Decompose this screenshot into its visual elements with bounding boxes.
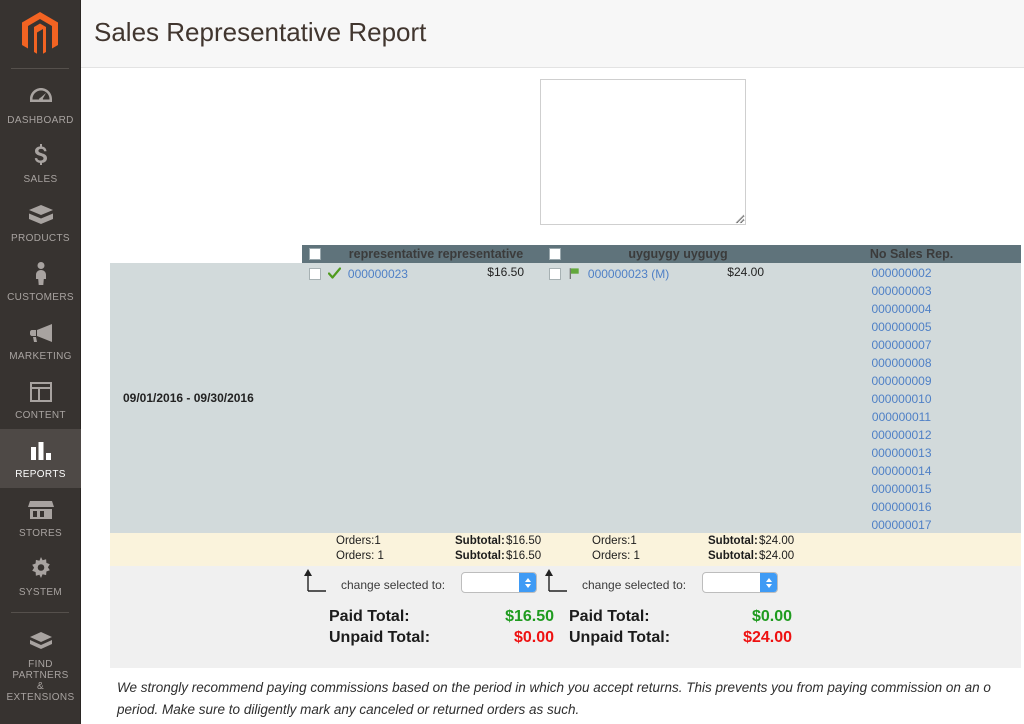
change-selected-label-rep2: change selected to:	[582, 578, 686, 592]
magento-logo-icon	[20, 12, 60, 56]
order-row: 000000004	[782, 299, 1021, 317]
paid-total-value: $16.50	[505, 608, 554, 626]
order-row: 000000002	[782, 263, 1021, 281]
dashboard-icon	[29, 84, 53, 110]
order-row: 000000003	[782, 281, 1021, 299]
order-row: 000000012	[782, 425, 1021, 443]
unpaid-total-row: Unpaid Total: $0.00	[329, 629, 554, 650]
sidebar-item-label: SALES	[24, 174, 58, 185]
rep1-orders-count-1: Orders:1	[336, 535, 381, 547]
order-row: 000000015	[782, 479, 1021, 497]
unpaid-total-row: Unpaid Total: $24.00	[569, 629, 792, 650]
rep1-totals: Paid Total: $16.50 Unpaid Total: $0.00	[329, 608, 554, 650]
rep2-orders-count-1: Orders:1	[592, 535, 637, 547]
sidebar-item-dashboard[interactable]: DASHBOARD	[0, 75, 81, 134]
person-icon	[34, 261, 48, 287]
paid-total-row: Paid Total: $0.00	[569, 608, 792, 629]
order-link[interactable]: 000000005	[871, 320, 931, 334]
unpaid-total-value: $24.00	[743, 629, 792, 647]
sidebar-item-content[interactable]: CONTENT	[0, 370, 81, 429]
sidebar-divider-bottom	[11, 612, 69, 613]
rep2-orders-column: 000000023 (M) $24.00	[542, 263, 782, 533]
sidebar-item-marketing[interactable]: MARKETING	[0, 311, 81, 370]
paid-total-value: $0.00	[752, 608, 792, 626]
select-all-checkbox-rep2[interactable]	[549, 248, 561, 260]
order-link[interactable]: 000000004	[871, 302, 931, 316]
date-range-cell: 09/01/2016 - 09/30/2016	[110, 263, 302, 533]
order-link[interactable]: 000000011	[872, 410, 931, 424]
layout-icon	[29, 379, 53, 405]
elbow-arrow-icon	[543, 569, 569, 593]
order-row: 000000007	[782, 335, 1021, 353]
stepper-arrows-icon	[760, 573, 777, 592]
sidebar-item-reports[interactable]: REPORTS	[0, 429, 81, 488]
order-link[interactable]: 000000008	[871, 356, 931, 370]
order-link[interactable]: 000000016	[871, 500, 931, 514]
order-link[interactable]: 000000007	[871, 338, 931, 352]
rep1-subtotal-value-2: $16.50	[506, 550, 541, 562]
order-row: 000000011	[782, 407, 1021, 425]
order-link[interactable]: 000000013	[871, 446, 931, 460]
order-link[interactable]: 000000015	[871, 482, 931, 496]
extension-icon	[28, 628, 54, 654]
order-row: 000000008	[782, 353, 1021, 371]
date-range-label: 09/01/2016 - 09/30/2016	[123, 391, 254, 405]
column-header-rep2: uyguygy uyguyg	[568, 247, 788, 261]
order-amount: $16.50	[487, 265, 524, 279]
change-selected-select-rep1[interactable]	[461, 572, 537, 593]
page-content: representative representative uyguygy uy…	[81, 69, 1024, 724]
change-selected-label-rep1: change selected to:	[341, 578, 445, 592]
order-link[interactable]: 000000003	[871, 284, 931, 298]
order-checkbox[interactable]	[549, 268, 561, 280]
order-link[interactable]: 000000012	[871, 428, 931, 442]
order-row: 000000005	[782, 317, 1021, 335]
rep2-orders-count-2: Orders: 1	[592, 550, 640, 562]
green-flag-icon	[568, 267, 581, 280]
rep2-subtotal-value-2: $24.00	[759, 550, 794, 562]
paid-total-label: Paid Total:	[569, 608, 650, 626]
grid-actions: change selected to:	[110, 566, 1021, 668]
order-row: 000000014	[782, 461, 1021, 479]
unpaid-total-label: Unpaid Total:	[329, 629, 430, 647]
order-row: 000000023 $16.50	[302, 263, 542, 281]
sidebar-item-sales[interactable]: SALES	[0, 134, 81, 193]
no-sales-rep-column: 0000000020000000030000000040000000050000…	[782, 263, 1021, 533]
magento-logo[interactable]	[0, 0, 80, 68]
notes-textarea[interactable]	[540, 79, 746, 225]
green-check-icon	[328, 267, 341, 280]
sidebar-item-label: CUSTOMERS	[7, 292, 74, 303]
order-link[interactable]: 000000002	[871, 266, 931, 280]
order-row: 000000013	[782, 443, 1021, 461]
sidebar-item-customers[interactable]: CUSTOMERS	[0, 252, 81, 311]
sidebar-item-label: REPORTS	[15, 469, 66, 480]
order-link[interactable]: 000000023	[348, 267, 408, 281]
unpaid-total-value: $0.00	[514, 629, 554, 647]
rep1-subtotal-label-1: Subtotal:	[455, 535, 505, 547]
unpaid-total-label: Unpaid Total:	[569, 629, 670, 647]
page-title: Sales Representative Report	[94, 17, 426, 48]
sidebar-item-stores[interactable]: STORES	[0, 488, 81, 547]
storefront-icon	[28, 497, 54, 523]
order-link[interactable]: 000000010	[871, 392, 931, 406]
change-selected-select-rep2[interactable]	[702, 572, 778, 593]
sidebar-item-find-partners[interactable]: FIND PARTNERS& EXTENSIONS	[0, 619, 81, 711]
order-link[interactable]: 000000014	[871, 464, 931, 478]
megaphone-icon	[28, 320, 54, 346]
grid-header-row: representative representative uyguygy uy…	[302, 245, 1021, 263]
sidebar-item-label: CONTENT	[15, 410, 66, 421]
sidebar-item-label: DASHBOARD	[7, 115, 74, 126]
sidebar-item-label: SYSTEM	[19, 587, 62, 598]
dollar-icon	[33, 143, 49, 169]
order-row: 000000009	[782, 371, 1021, 389]
rep2-subtotal-label-2: Subtotal:	[708, 550, 758, 562]
sidebar-divider-top	[11, 68, 69, 69]
grid-body: 09/01/2016 - 09/30/2016 000000023 $16.50	[110, 263, 1021, 533]
column-header-no-sales-rep: No Sales Rep.	[802, 247, 1021, 261]
order-link[interactable]: 000000009	[871, 374, 931, 388]
order-row: 000000023 (M) $24.00	[542, 263, 782, 281]
paid-total-row: Paid Total: $16.50	[329, 608, 554, 629]
rep1-subtotal-value-1: $16.50	[506, 535, 541, 547]
paid-total-label: Paid Total:	[329, 608, 410, 626]
rep1-orders-count-2: Orders: 1	[336, 550, 384, 562]
rep2-subtotal-label-1: Subtotal:	[708, 535, 758, 547]
order-amount: $24.00	[727, 265, 764, 279]
commission-disclaimer: We strongly recommend paying commissions…	[117, 677, 1024, 721]
stepper-arrows-icon	[519, 573, 536, 592]
admin-sidebar: DASHBOARD SALES PRODUCTS	[0, 0, 81, 724]
rep2-subtotal-value-1: $24.00	[759, 535, 794, 547]
sidebar-item-label: STORES	[19, 528, 62, 539]
column-header-rep1: representative representative	[326, 247, 546, 261]
order-row: 000000010	[782, 389, 1021, 407]
select-all-checkbox-rep1[interactable]	[309, 248, 321, 260]
sales-representative-grid: representative representative uyguygy uy…	[110, 245, 1021, 668]
rep1-orders-column: 000000023 $16.50	[302, 263, 542, 533]
rep2-totals: Paid Total: $0.00 Unpaid Total: $24.00	[569, 608, 792, 650]
sidebar-item-label: MARKETING	[9, 351, 72, 362]
order-row: 000000016	[782, 497, 1021, 515]
order-row: 000000017	[782, 515, 1021, 533]
sidebar-item-system[interactable]: SYSTEM	[0, 547, 81, 606]
bar-chart-icon	[30, 438, 52, 464]
admin-page: DASHBOARD SALES PRODUCTS	[0, 0, 1024, 724]
sidebar-item-label: PRODUCTS	[11, 233, 70, 244]
elbow-arrow-icon	[302, 569, 328, 593]
gear-icon	[29, 556, 53, 582]
order-checkbox[interactable]	[309, 268, 321, 280]
sidebar-item-label: FIND PARTNERS& EXTENSIONS	[2, 659, 79, 703]
box-icon	[28, 202, 54, 228]
order-link[interactable]: 000000017	[871, 518, 931, 532]
grid-summary-row: Orders:1 Subtotal: $16.50 Orders:1 Subto…	[110, 533, 1021, 566]
order-link[interactable]: 000000023 (M)	[588, 267, 669, 281]
page-header: Sales Representative Report	[81, 0, 1024, 68]
sidebar-item-products[interactable]: PRODUCTS	[0, 193, 81, 252]
rep1-subtotal-label-2: Subtotal:	[455, 550, 505, 562]
